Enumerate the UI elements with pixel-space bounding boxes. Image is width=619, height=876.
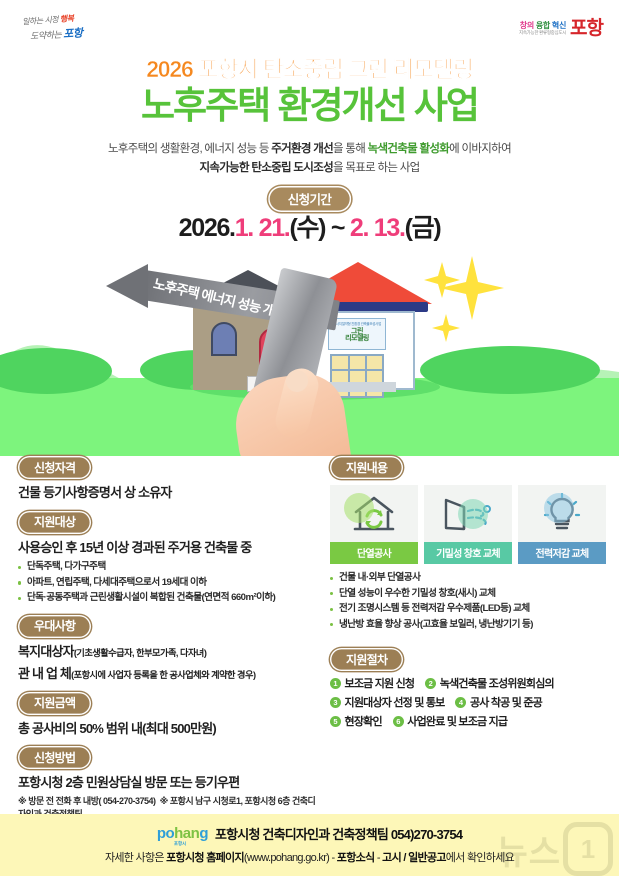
support-card-insulation: 단열공사 [330, 485, 418, 564]
subtitle-description: 노후주택의 생활환경, 에너지 성능 등 주거환경 개선을 통해 녹색건축물 활… [0, 140, 619, 178]
section-target: 지원대상 사용승인 후 15년 이상 경과된 주거용 건축물 중 단독주택, 다… [18, 511, 318, 606]
step-label: 녹색건축물 조성위원회심의 [440, 675, 554, 691]
icon-box [424, 485, 512, 542]
sparkle-icons [420, 252, 530, 352]
list-item: 단독주택, 다가구주택 [18, 559, 318, 575]
footer-band: 뉴스 1 pohang포항시 포항시청 건축디자인과 건축정책팀 054)270… [0, 814, 619, 876]
list-item: 아파트, 연립주택, 다세대주택으로서 19세대 이하 [18, 575, 318, 591]
support-card-power: 전력저감 교체 [518, 485, 606, 564]
city-logo-mark: 포항 [570, 19, 603, 38]
procedure-row: 5 현장확인 6 사업완료 및 보조금 지급 [330, 713, 608, 729]
step-number: 6 [393, 716, 404, 727]
section-amount: 지원금액 총 공사비의 50% 범위 내(최대 500만원) [18, 692, 318, 738]
city-logo-tagline: 창의 융합 혁신 [519, 21, 566, 30]
procedure-step: 1 보조금 지원 신청 [330, 675, 414, 691]
amount-text: 총 공사비의 50% 범위 내(최대 500만원) [18, 720, 318, 738]
list-item: 냉난방 효율 향상 공사(고효율 보일러, 냉난방기기 등) [330, 617, 608, 633]
section-method: 신청방법 포항시청 2층 민원상담실 방문 또는 등기우편 ※ 방문 전 전화 … [18, 746, 318, 820]
section-pill-procedure: 지원절차 [330, 648, 403, 671]
procedure-step: 2 녹색건축물 조성위원회심의 [425, 675, 554, 691]
section-support: 지원내용 [330, 456, 608, 632]
eligibility-text: 건물 등기사항증명서 상 소유자 [18, 484, 318, 502]
step-label: 보조금 지원 신청 [345, 675, 415, 691]
step-label: 지원대상자 선정 및 통보 [345, 694, 445, 710]
watermark-text: 뉴스 [496, 825, 561, 874]
poster-root: 일하는 시정 행복 도약하는 포항 창의 융합 혁신 지속가능한 환류형중심도시… [0, 0, 619, 876]
page-title-group: 2026 포항시 탄소중립 그린 리모델링 노후주택 환경개선 사업 [0, 50, 619, 125]
priority-line-1: 복지대상자(기초생활수급자, 한부모가족, 다자녀) [18, 643, 318, 661]
step-number: 5 [330, 716, 341, 727]
pohang-slogan-logo: 일하는 시정 행복 도약하는 포항 [22, 12, 152, 48]
icon-box [518, 485, 606, 542]
support-cards: 단열공사 기밀성 [330, 485, 608, 564]
target-bullet-list: 단독주택, 다가구주택 아파트, 연립주택, 다세대주택으로서 19세대 이하 … [18, 559, 318, 606]
step-number: 3 [330, 697, 341, 708]
subtitle-line-1: 노후주택의 생활환경, 에너지 성능 등 주거환경 개선을 통해 녹색건축물 활… [0, 140, 619, 159]
procedure-row: 3 지원대상자 선정 및 통보 4 공사 착공 및 준공 [330, 694, 608, 710]
step-number: 1 [330, 678, 341, 689]
list-item: 건물 내·외부 단열공사 [330, 570, 608, 586]
news1-watermark: 뉴스 1 [496, 822, 613, 876]
content-area: 신청자격 건물 등기사항증명서 상 소유자 지원대상 사용승인 후 15년 이상… [0, 456, 619, 812]
application-period-dates: 2026.1. 21.(수) ~ 2. 13.(금) [0, 208, 619, 244]
section-pill-eligibility: 신청자격 [18, 456, 91, 479]
section-pill-priority: 우대사항 [18, 615, 91, 638]
support-card-label: 전력저감 교체 [518, 542, 606, 564]
footer-department: 포항시청 건축디자인과 건축정책팀 054)270-3754 [215, 824, 462, 843]
procedure-step: 4 공사 착공 및 준공 [455, 694, 542, 710]
list-item: 전기 조명시스템 등 전력저감 우수제품(LED등) 교체 [330, 601, 608, 617]
step-number: 4 [455, 697, 466, 708]
section-pill-method: 신청방법 [18, 746, 91, 769]
eyebrow-title: 2026 포항시 탄소중립 그린 리모델링 [0, 50, 619, 84]
right-column: 지원내용 [330, 456, 608, 738]
list-item: 단독·공동주택과 근린생활시설이 복합된 건축물(연면적 660m²이하) [18, 590, 318, 606]
section-pill-amount: 지원금액 [18, 692, 91, 715]
procedure-step: 5 현장확인 [330, 713, 382, 729]
step-label: 현장확인 [345, 713, 382, 729]
section-priority: 우대사항 복지대상자(기초생활수급자, 한부모가족, 다자녀) 관 내 업 체(… [18, 615, 318, 683]
step-number: 2 [425, 678, 436, 689]
step-label: 사업완료 및 보조금 지급 [407, 713, 507, 729]
section-procedure: 지원절차 1 보조금 지원 신청 2 녹색건축물 조성위원회심의 [330, 648, 608, 729]
left-column: 신청자격 건물 등기사항증명서 상 소유자 지원대상 사용승인 후 15년 이상… [18, 456, 318, 829]
support-card-label: 기밀성 창호 교체 [424, 542, 512, 564]
support-card-label: 단열공사 [330, 542, 418, 564]
step-label: 공사 착공 및 준공 [470, 694, 542, 710]
list-item: 단열 성능이 우수한 기밀성 창호(새시) 교체 [330, 586, 608, 602]
page-title: 노후주택 환경개선 사업 [0, 86, 619, 125]
target-lead: 사용승인 후 15년 이상 경과된 주거용 건축물 중 [18, 539, 318, 557]
hand-peeling-icon [236, 272, 356, 456]
procedure-steps: 1 보조금 지원 신청 2 녹색건축물 조성위원회심의 3 지원대상자 선정 및… [330, 675, 608, 729]
procedure-step: 3 지원대상자 선정 및 통보 [330, 694, 444, 710]
procedure-row: 1 보조금 지원 신청 2 녹색건축물 조성위원회심의 [330, 675, 608, 691]
section-pill-target: 지원대상 [18, 511, 91, 534]
watermark-number: 1 [563, 822, 613, 876]
pohang-city-logo: 창의 융합 혁신 지속가능한 환류형중심도시 포항 [519, 10, 603, 46]
priority-line-2: 관 내 업 체(포항시에 사업자 등록을 한 공사업체와 계약한 경우) [18, 665, 318, 683]
method-text: 포항시청 2층 민원상담실 방문 또는 등기우편 [18, 774, 318, 792]
city-logo-text: 창의 융합 혁신 지속가능한 환류형중심도시 [519, 21, 566, 35]
hero-illustration: 에너지절약형 친환경 건축물조성사업 그린리모델링 노후주택 에너지 성능 개선 [0, 244, 619, 456]
section-pill-support: 지원내용 [330, 456, 403, 479]
section-eligibility: 신청자격 건물 등기사항증명서 상 소유자 [18, 456, 318, 502]
procedure-step: 6 사업완료 및 보조금 지급 [393, 713, 507, 729]
icon-box [330, 485, 418, 542]
support-card-window: 기밀성 창호 교체 [424, 485, 512, 564]
bush-right-icon [420, 346, 600, 394]
pohang-footer-logo: pohang포항시 [157, 826, 208, 841]
support-bullet-list: 건물 내·외부 단열공사 단열 성능이 우수한 기밀성 창호(새시) 교체 전기… [330, 570, 608, 632]
city-logo-subtext: 지속가능한 환류형중심도시 [519, 30, 566, 35]
subtitle-line-2: 지속가능한 탄소중립 도시조성을 목표로 하는 사업 [0, 159, 619, 178]
